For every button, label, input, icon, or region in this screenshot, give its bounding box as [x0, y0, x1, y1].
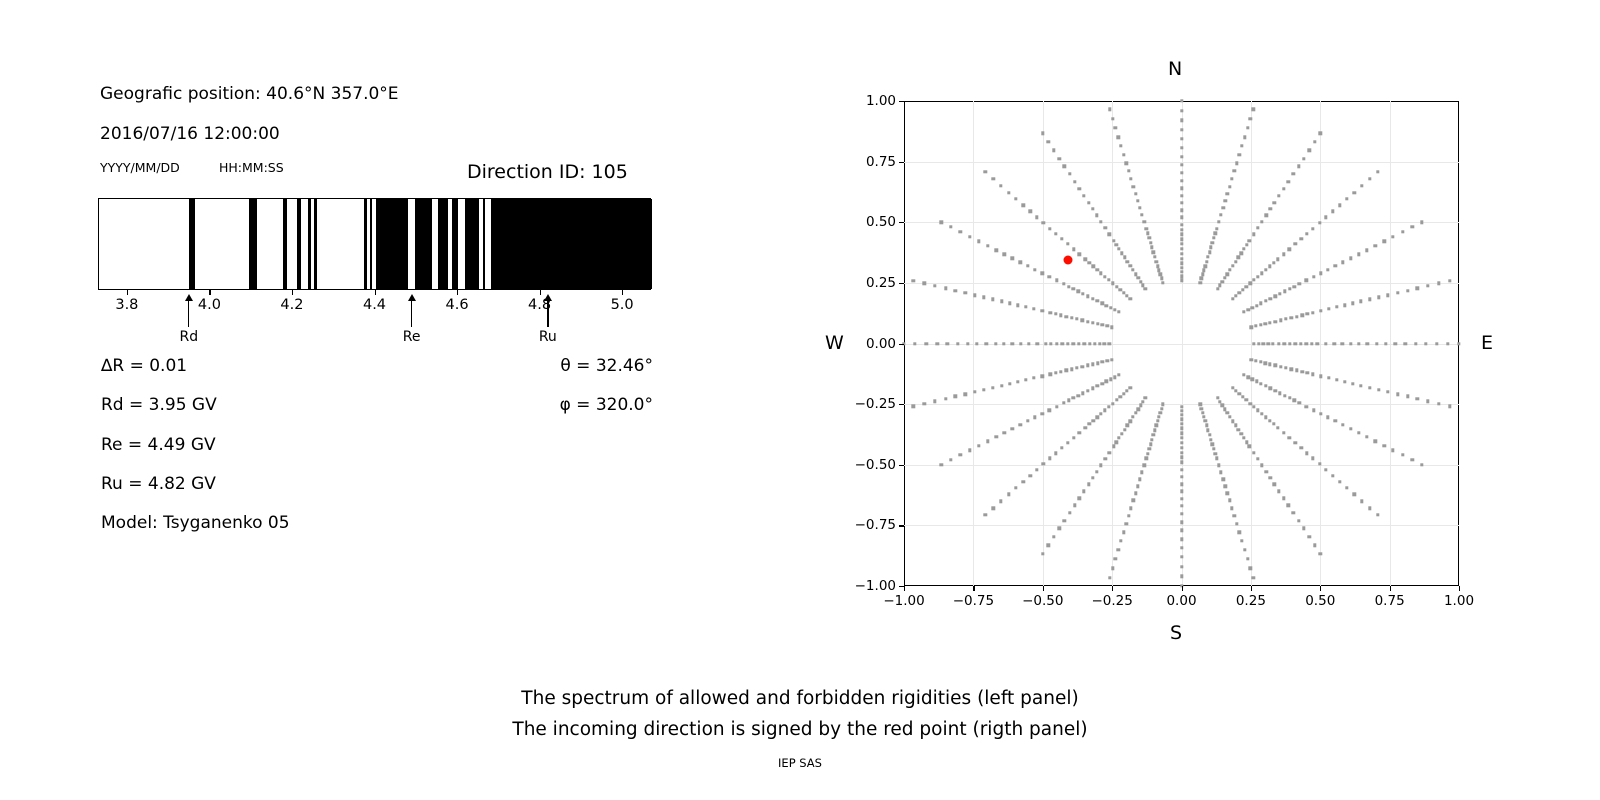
direction-dot: [1240, 144, 1243, 147]
direction-dot: [1312, 408, 1315, 411]
direction-dot: [1134, 411, 1137, 414]
direction-dot: [1180, 128, 1183, 131]
direction-dot: [1180, 216, 1183, 219]
direction-dot: [1040, 309, 1043, 312]
direction-dot: [991, 177, 994, 180]
direction-dot: [1075, 317, 1078, 320]
direction-dot: [1272, 261, 1275, 264]
direction-dot: [1054, 232, 1057, 235]
direction-dot: [1129, 507, 1132, 510]
direction-dot: [1180, 441, 1183, 444]
direction-dot: [1180, 187, 1183, 190]
direction-dot: [1113, 375, 1116, 378]
forbidden-band: [483, 199, 485, 289]
direction-dot: [1024, 378, 1027, 381]
direction-dot: [1180, 512, 1183, 515]
direction-dot: [1365, 435, 1368, 438]
direction-dot: [1283, 394, 1286, 397]
direction-dot: [1234, 424, 1237, 427]
direction-dot: [1376, 513, 1379, 516]
direction-dot: [1108, 108, 1111, 111]
direction-dot: [1277, 342, 1280, 345]
direction-dot: [1228, 185, 1231, 188]
direction-dot: [1338, 203, 1341, 206]
direction-dot: [1282, 342, 1285, 345]
direction-dot: [1052, 535, 1055, 538]
direction-dot: [1027, 342, 1030, 345]
direction-dot: [1098, 342, 1101, 345]
axis-tick: [127, 290, 128, 295]
direction-dot: [1078, 431, 1081, 434]
direction-dot: [1305, 342, 1308, 345]
direction-dot: [1117, 136, 1120, 139]
direction-dot: [1078, 253, 1081, 256]
direction-dot: [1259, 360, 1262, 363]
direction-dot: [1180, 427, 1183, 430]
direction-dot: [1264, 214, 1267, 217]
direction-dot: [1111, 567, 1114, 570]
x-axis-tick-label: 1.00: [1444, 593, 1474, 609]
direction-dot: [1180, 546, 1183, 549]
direction-dot: [1070, 368, 1073, 371]
direction-dot: [1144, 287, 1147, 290]
direction-dot: [1122, 153, 1125, 156]
direction-dot: [1054, 452, 1057, 455]
direction-dot: [1180, 194, 1183, 197]
direction-dot: [1022, 480, 1025, 483]
direction-dot: [1349, 427, 1352, 430]
direction-dot: [1078, 497, 1081, 500]
direction-dot: [1117, 436, 1120, 439]
direction-dot: [1072, 247, 1075, 250]
datetime-text: 2016/07/16 12:00:00: [100, 124, 280, 144]
direction-dot: [1180, 436, 1183, 439]
direction-dot: [1254, 359, 1257, 362]
direction-dot: [1282, 253, 1285, 256]
y-axis-tick-mark: [899, 101, 904, 102]
direction-dot: [1076, 290, 1079, 293]
direction-dot: [1091, 297, 1094, 300]
forbidden-band: [438, 199, 448, 289]
direction-dot: [1095, 470, 1098, 473]
direction-dot: [1276, 258, 1279, 261]
direction-dot: [1351, 382, 1354, 385]
direction-dot: [1360, 184, 1363, 187]
direction-dot: [1306, 312, 1309, 315]
direction-dot: [1155, 260, 1158, 263]
direction-dot: [1145, 227, 1148, 230]
direction-dot: [1406, 395, 1409, 398]
direction-map-panel: −1.00−0.75−0.50−0.250.000.250.500.751.00…: [904, 101, 1459, 586]
direction-dot: [1180, 432, 1183, 435]
direction-dot: [1180, 242, 1183, 245]
direction-dot: [1055, 342, 1058, 345]
y-axis-tick-label: −0.75: [855, 517, 896, 533]
direction-dot: [1272, 422, 1275, 425]
direction-dot: [1245, 441, 1248, 444]
direction-dot: [1359, 384, 1362, 387]
direction-dot: [1156, 419, 1159, 422]
direction-dot: [1245, 243, 1248, 246]
direction-dot: [1122, 531, 1125, 534]
direction-dot: [1160, 407, 1163, 410]
direction-dot: [1216, 287, 1219, 290]
direction-dot: [944, 397, 947, 400]
x-axis-tick-mark: [1390, 586, 1391, 591]
direction-dot: [1054, 312, 1057, 315]
direction-dot: [1048, 373, 1051, 376]
direction-dot: [1153, 255, 1156, 258]
direction-dot: [1086, 364, 1089, 367]
direction-dot: [1255, 380, 1258, 383]
y-axis-tick-label: 0.50: [866, 214, 896, 230]
direction-dot: [1096, 384, 1099, 387]
caption-line-1: The spectrum of allowed and forbidden ri…: [0, 688, 1600, 709]
direction-dot: [1297, 519, 1300, 522]
marker-arrow-re: [411, 300, 412, 327]
direction-dot: [1091, 476, 1094, 479]
direction-dot: [1254, 324, 1257, 327]
direction-dot: [1228, 268, 1231, 271]
direction-dot: [1326, 416, 1329, 419]
compass-label-west: W: [825, 332, 844, 354]
direction-dot: [1139, 280, 1142, 283]
direction-dot: [1237, 428, 1240, 431]
direction-dot: [1180, 405, 1183, 408]
direction-dot: [1180, 504, 1183, 507]
direction-dot: [1424, 342, 1427, 345]
direction-dot: [1059, 370, 1062, 373]
direction-dot: [1103, 226, 1106, 229]
direction-dot: [1391, 448, 1394, 451]
direction-dot: [1063, 165, 1066, 168]
direction-dot: [973, 390, 976, 393]
direction-dot: [1109, 378, 1112, 381]
direction-dot: [1150, 438, 1153, 441]
direction-dot: [1138, 206, 1141, 209]
direction-dot: [1180, 461, 1183, 464]
direction-dot: [1041, 132, 1044, 135]
direction-dot: [1446, 342, 1449, 345]
direction-dot: [1252, 342, 1255, 345]
direction-dot: [1235, 161, 1238, 164]
direction-dot: [1068, 172, 1071, 175]
direction-dot: [1134, 272, 1137, 275]
direction-dot: [1214, 452, 1217, 455]
direction-dot: [1245, 285, 1248, 288]
direction-dot: [1081, 392, 1084, 395]
direction-dot: [1305, 452, 1308, 455]
forbidden-band: [314, 199, 316, 289]
direction-dot: [1127, 169, 1130, 172]
direction-dot: [939, 463, 942, 466]
direction-dot: [1259, 382, 1262, 385]
forbidden-band: [364, 199, 366, 289]
direction-dot: [924, 342, 927, 345]
direction-dot: [1401, 230, 1404, 233]
direction-dot: [1131, 268, 1134, 271]
direction-dot: [1420, 463, 1423, 466]
direction-dot: [1108, 451, 1111, 454]
direction-dot: [1252, 108, 1255, 111]
direction-dot: [1048, 275, 1051, 278]
direction-dot: [1091, 387, 1094, 390]
direction-dot: [1282, 497, 1285, 500]
direction-dot: [1003, 252, 1006, 255]
direction-dot: [1152, 250, 1155, 253]
direction-dot: [1233, 514, 1236, 517]
direction-dot: [1108, 342, 1111, 345]
direction-dot: [1357, 342, 1360, 345]
direction-dot: [982, 388, 985, 391]
marker-arrow-rd: [188, 300, 189, 327]
direction-dot: [1335, 305, 1338, 308]
direction-dot: [1120, 251, 1123, 254]
direction-dot: [1243, 136, 1246, 139]
direction-dot: [1180, 490, 1183, 493]
forbidden-band: [376, 199, 408, 289]
direction-dot: [1153, 428, 1156, 431]
direction-dot: [1115, 285, 1118, 288]
y-axis-tick-label: 0.25: [866, 275, 896, 291]
direction-dot: [1087, 201, 1090, 204]
direction-dot: [1072, 436, 1075, 439]
direction-dot: [1268, 363, 1271, 366]
direction-dot: [1391, 235, 1394, 238]
direction-dot: [1099, 412, 1102, 415]
selected-direction-marker[interactable]: [1063, 255, 1072, 264]
x-axis-tick-label: 0.25: [1236, 593, 1266, 609]
direction-dot: [1269, 207, 1272, 210]
direction-dot: [1052, 149, 1055, 152]
direction-dot: [1091, 207, 1094, 210]
direction-dot: [1048, 227, 1051, 230]
direction-dot: [1206, 428, 1209, 431]
direction-dot: [1155, 424, 1158, 427]
direction-dot: [1117, 310, 1120, 313]
direction-dot: [1003, 431, 1006, 434]
direction-dot: [1292, 172, 1295, 175]
direction-dot: [1349, 257, 1352, 260]
direction-dot: [1260, 220, 1263, 223]
param-phi: φ = 320.0°: [440, 395, 653, 415]
caption-line-2: The incoming direction is signed by the …: [0, 719, 1600, 740]
direction-dot: [1248, 445, 1251, 448]
direction-dot: [1123, 256, 1126, 259]
x-axis-tick-mark: [1320, 586, 1321, 591]
direction-dot: [1295, 369, 1298, 372]
direction-dot: [1274, 295, 1277, 298]
direction-dot: [1212, 447, 1215, 450]
direction-dot: [1078, 187, 1081, 190]
direction-dot: [1352, 191, 1355, 194]
x-axis-tick-mark: [904, 586, 905, 591]
y-axis-tick-mark: [899, 525, 904, 526]
y-axis-tick-label: −0.50: [855, 457, 896, 473]
direction-dot: [1368, 506, 1371, 509]
axis-tick: [540, 290, 541, 295]
direction-dot: [1235, 522, 1238, 525]
direction-dot: [1368, 386, 1371, 389]
direction-dot: [1140, 471, 1143, 474]
direction-dot: [1239, 251, 1242, 254]
direction-dot: [1231, 420, 1234, 423]
gridline-horizontal: [904, 525, 1459, 526]
x-axis-tick-mark: [973, 586, 974, 591]
rigidity-spectrum-bar: [98, 198, 651, 290]
direction-dot: [1334, 264, 1337, 267]
direction-dot: [1066, 242, 1069, 245]
direction-dot: [1072, 287, 1075, 290]
direction-dot: [1335, 378, 1338, 381]
direction-dot: [1140, 213, 1143, 216]
direction-dot: [1019, 423, 1022, 426]
marker-label-re: Re: [403, 329, 421, 345]
direction-dot: [1067, 399, 1070, 402]
direction-dot: [1062, 282, 1065, 285]
direction-dot: [936, 342, 939, 345]
direction-dot: [1246, 557, 1249, 560]
direction-dot: [1243, 548, 1246, 551]
direction-dot: [1132, 185, 1135, 188]
direction-dot: [1234, 260, 1237, 263]
x-axis-tick-label: −1.00: [883, 593, 924, 609]
direction-dot: [1035, 468, 1038, 471]
direction-dot: [1278, 292, 1281, 295]
direction-dot: [1112, 239, 1115, 242]
direction-dot: [1292, 511, 1295, 514]
y-axis-tick-label: −1.00: [855, 578, 896, 594]
axis-tick-label: 5.0: [611, 297, 634, 313]
direction-dot: [1147, 236, 1150, 239]
x-axis-tick-label: 0.75: [1375, 593, 1405, 609]
y-axis-tick-label: 0.00: [866, 336, 896, 352]
direction-dot: [1014, 486, 1017, 489]
direction-dot: [1180, 575, 1183, 578]
direction-dot: [1019, 342, 1022, 345]
direction-dot: [1180, 520, 1183, 523]
forbidden-band: [415, 199, 433, 289]
direction-dot: [1365, 248, 1368, 251]
direction-dot: [1230, 507, 1233, 510]
direction-dot: [1319, 132, 1322, 135]
direction-dot: [1118, 288, 1121, 291]
direction-dot: [1203, 419, 1206, 422]
direction-dot: [1288, 436, 1291, 439]
direction-dot: [1305, 405, 1308, 408]
direction-dot: [1091, 265, 1094, 268]
direction-dot: [1287, 504, 1290, 507]
direction-dot: [1000, 384, 1003, 387]
direction-dot: [1149, 241, 1152, 244]
direction-dot: [1268, 321, 1271, 324]
direction-dot: [1124, 161, 1127, 164]
direction-dot: [1070, 316, 1073, 319]
direction-dot: [1007, 191, 1010, 194]
axis-tick: [209, 290, 210, 295]
x-axis-tick-mark: [1251, 586, 1252, 591]
direction-dot: [1366, 342, 1369, 345]
direction-dot: [1271, 342, 1274, 345]
direction-dot: [1040, 374, 1043, 377]
direction-dot: [1262, 342, 1265, 345]
direction-dot: [1319, 309, 1322, 312]
direction-dot: [949, 458, 952, 461]
direction-dot: [1091, 321, 1094, 324]
direction-dot: [933, 400, 936, 403]
direction-dot: [1343, 380, 1346, 383]
direction-dot: [1180, 228, 1183, 231]
direction-dot: [1248, 402, 1251, 405]
direction-dot: [1311, 311, 1314, 314]
direction-dot: [1246, 308, 1249, 311]
axis-tick-label: 4.4: [363, 297, 386, 313]
direction-dot: [1237, 256, 1240, 259]
direction-dot: [1047, 543, 1050, 546]
forbidden-band: [491, 199, 652, 289]
direction-dot: [1218, 284, 1221, 287]
direction-dot: [1146, 232, 1149, 235]
direction-dot: [1065, 369, 1068, 372]
direction-dot: [968, 235, 971, 238]
direction-dot: [1221, 478, 1224, 481]
direction-dot: [1416, 287, 1419, 290]
direction-dot: [1022, 203, 1025, 206]
direction-dot: [1105, 380, 1108, 383]
direction-dot: [1248, 282, 1251, 285]
direction-dot: [1048, 311, 1051, 314]
direction-dot: [1331, 474, 1334, 477]
footer-credit: IEP SAS: [0, 756, 1600, 770]
x-axis-tick-mark: [1112, 586, 1113, 591]
direction-dot: [1088, 342, 1091, 345]
direction-dot: [1118, 395, 1121, 398]
direction-dot: [1180, 99, 1183, 102]
direction-dot: [1240, 539, 1243, 542]
direction-dot: [1011, 427, 1014, 430]
direction-dot: [1209, 246, 1212, 249]
forbidden-band: [297, 199, 301, 289]
direction-dot: [1283, 290, 1286, 293]
direction-dot: [1160, 277, 1163, 280]
direction-dot: [1109, 306, 1112, 309]
direction-dot: [1134, 192, 1137, 195]
direction-dot: [1083, 342, 1086, 345]
direction-dot: [1374, 244, 1377, 247]
direction-dot: [1150, 246, 1153, 249]
direction-dot: [1448, 405, 1451, 408]
direction-dot: [1072, 396, 1075, 399]
compass-label-east: E: [1481, 332, 1493, 354]
direction-dot: [1318, 221, 1321, 224]
direction-dot: [1313, 140, 1316, 143]
direction-dot: [1180, 119, 1183, 122]
direction-dot: [1016, 380, 1019, 383]
direction-dot: [1128, 420, 1131, 423]
direction-dot: [1264, 322, 1267, 325]
direction-dot: [1024, 305, 1027, 308]
direction-dot: [1126, 424, 1129, 427]
direction-dot: [1420, 221, 1423, 224]
direction-dot: [1008, 382, 1011, 385]
x-axis-tick-mark: [1459, 586, 1460, 591]
direction-dot: [1180, 109, 1183, 112]
direction-dot: [1298, 282, 1301, 285]
direction-dot: [1311, 227, 1314, 230]
direction-dot: [1274, 389, 1277, 392]
direction-dot: [1256, 457, 1259, 460]
direction-dot: [1156, 264, 1159, 267]
